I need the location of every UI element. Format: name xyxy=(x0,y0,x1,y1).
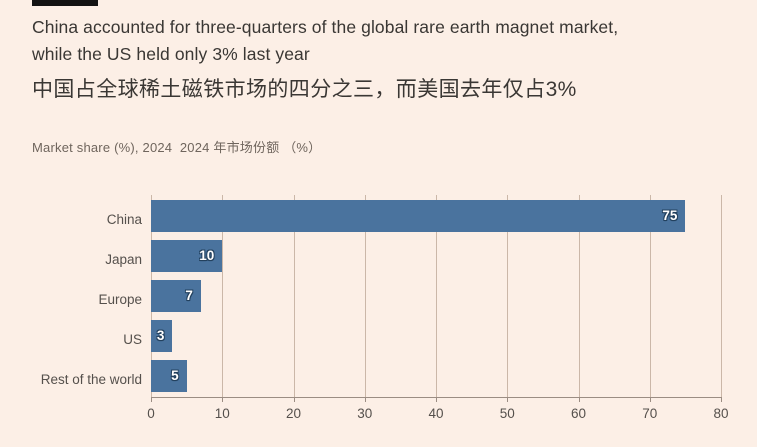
x-axis-tick-label: 60 xyxy=(571,406,586,421)
bar-value-label: 75 xyxy=(662,200,677,232)
x-axis-tick-label: 20 xyxy=(286,406,301,421)
bar-chart: 01020304050607080 China75Japan10Europe7U… xyxy=(0,178,757,447)
bar-row: Europe7 xyxy=(0,280,757,320)
bar-row: Japan10 xyxy=(0,240,757,280)
x-axis-tick-label: 10 xyxy=(215,406,230,421)
bar-row: China75 xyxy=(0,200,757,240)
bar-value-label: 10 xyxy=(199,240,214,272)
bar-value-label: 5 xyxy=(171,360,179,392)
headline-block: China accounted for three-quarters of th… xyxy=(32,14,732,105)
bar[interactable] xyxy=(151,280,201,312)
category-label: US xyxy=(2,320,142,360)
category-label: China xyxy=(2,200,142,240)
bar-value-label: 7 xyxy=(185,280,193,312)
top-rule-decoration xyxy=(32,0,98,6)
x-axis-tick-label: 40 xyxy=(428,406,443,421)
bar-row: Rest of the world5 xyxy=(0,360,757,400)
bar[interactable] xyxy=(151,360,187,392)
chart-subtitle: Market share (%), 2024 2024 年市场份额 （%） xyxy=(32,139,321,157)
category-label: Europe xyxy=(2,280,142,320)
bar-row: US3 xyxy=(0,320,757,360)
x-axis-tick-label: 50 xyxy=(500,406,515,421)
headline-english: China accounted for three-quarters of th… xyxy=(32,14,732,68)
category-label: Rest of the world xyxy=(2,360,142,400)
x-axis-tick-label: 70 xyxy=(642,406,657,421)
chart-canvas: China accounted for three-quarters of th… xyxy=(0,0,757,447)
category-label: Japan xyxy=(2,240,142,280)
x-axis-tick-label: 30 xyxy=(357,406,372,421)
x-axis-tick-label: 80 xyxy=(713,406,728,421)
bar[interactable] xyxy=(151,200,685,232)
bar-value-label: 3 xyxy=(157,320,165,352)
headline-chinese: 中国占全球稀土磁铁市场的四分之三，而美国去年仅占3% xyxy=(32,75,732,105)
x-axis-tick-label: 0 xyxy=(147,406,155,421)
